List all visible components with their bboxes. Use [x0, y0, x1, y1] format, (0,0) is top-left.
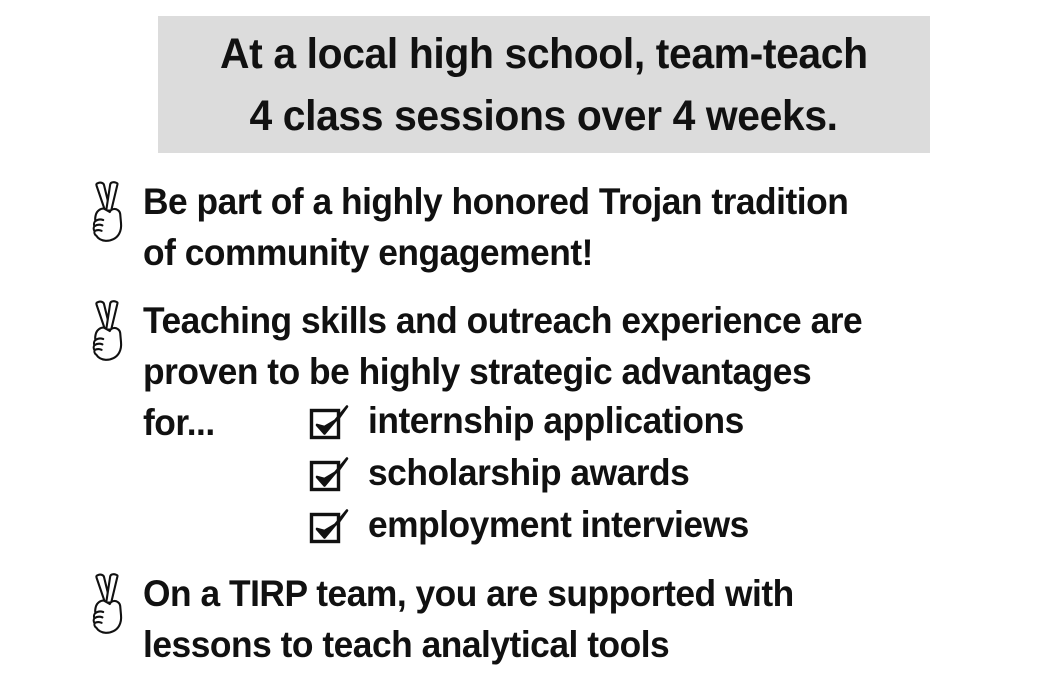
victory-hand-icon	[90, 180, 130, 244]
title-banner: At a local high school, team-teach 4 cla…	[158, 16, 930, 153]
bullet-item-3-text: On a TIRP team, you are supported with l…	[143, 568, 794, 670]
checklist-item-label: scholarship awards	[368, 450, 689, 496]
title-line-1: At a local high school, team-teach	[220, 23, 868, 85]
victory-hand-icon	[90, 572, 130, 636]
bullet-3-line-2: lessons to teach analytical tools	[143, 619, 794, 670]
bullet-1-line-1: Be part of a highly honored Trojan tradi…	[143, 176, 848, 227]
bullet-3-line-1: On a TIRP team, you are supported with	[143, 568, 794, 619]
bullet-item-1: Be part of a highly honored Trojan tradi…	[90, 176, 882, 278]
checklist-item[interactable]: internship applications	[308, 398, 767, 450]
victory-hand-icon	[90, 299, 130, 363]
title-line-2: 4 class sessions over 4 weeks.	[250, 85, 838, 147]
checklist: internship applications scholarship awar…	[308, 398, 767, 554]
bullet-item-1-text: Be part of a highly honored Trojan tradi…	[143, 176, 848, 278]
checked-checkbox-icon[interactable]	[308, 400, 350, 442]
checked-checkbox-icon[interactable]	[308, 452, 350, 494]
checked-checkbox-icon[interactable]	[308, 504, 350, 546]
bullet-2-line-1: Teaching skills and outreach experience …	[143, 295, 862, 346]
checklist-item[interactable]: scholarship awards	[308, 450, 767, 502]
bullet-1-line-2: of community engagement!	[143, 227, 848, 278]
bullet-item-3: On a TIRP team, you are supported with l…	[90, 568, 824, 670]
checklist-item[interactable]: employment interviews	[308, 502, 767, 554]
bullet-2-line-2: proven to be highly strategic advantages	[143, 346, 862, 397]
checklist-item-label: employment interviews	[368, 502, 749, 548]
checklist-item-label: internship applications	[368, 398, 744, 444]
slide-canvas: At a local high school, team-teach 4 cla…	[0, 0, 1050, 689]
